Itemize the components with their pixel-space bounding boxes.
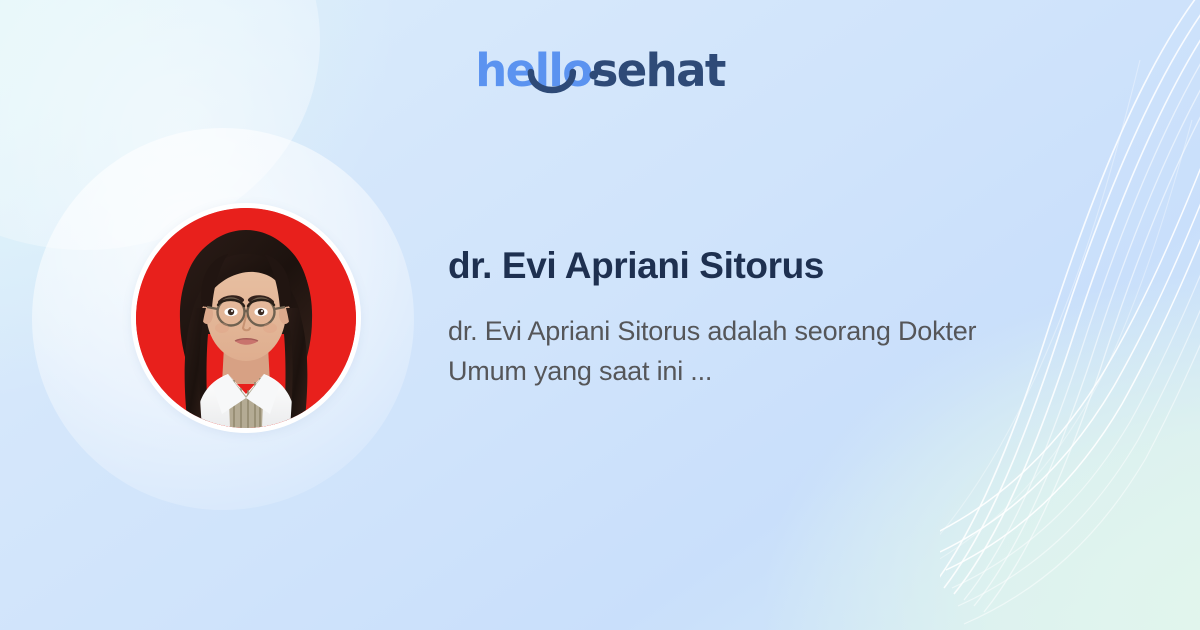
profile-description: dr. Evi Apriani Sitorus adalah seorang D… [448, 311, 1008, 391]
stethoscope-icon [475, 42, 725, 100]
site-logo[interactable]: hellosehat [0, 42, 1200, 102]
profile-content: dr. Evi Apriani Sitorus dr. Evi Apriani … [448, 243, 1048, 391]
avatar [131, 203, 361, 433]
page-title: dr. Evi Apriani Sitorus [448, 243, 1048, 289]
avatar-portrait-illustration [136, 208, 356, 428]
share-card-canvas: hellosehat [0, 0, 1200, 630]
avatar-photo [136, 208, 356, 428]
logo-inner: hellosehat [475, 42, 725, 100]
